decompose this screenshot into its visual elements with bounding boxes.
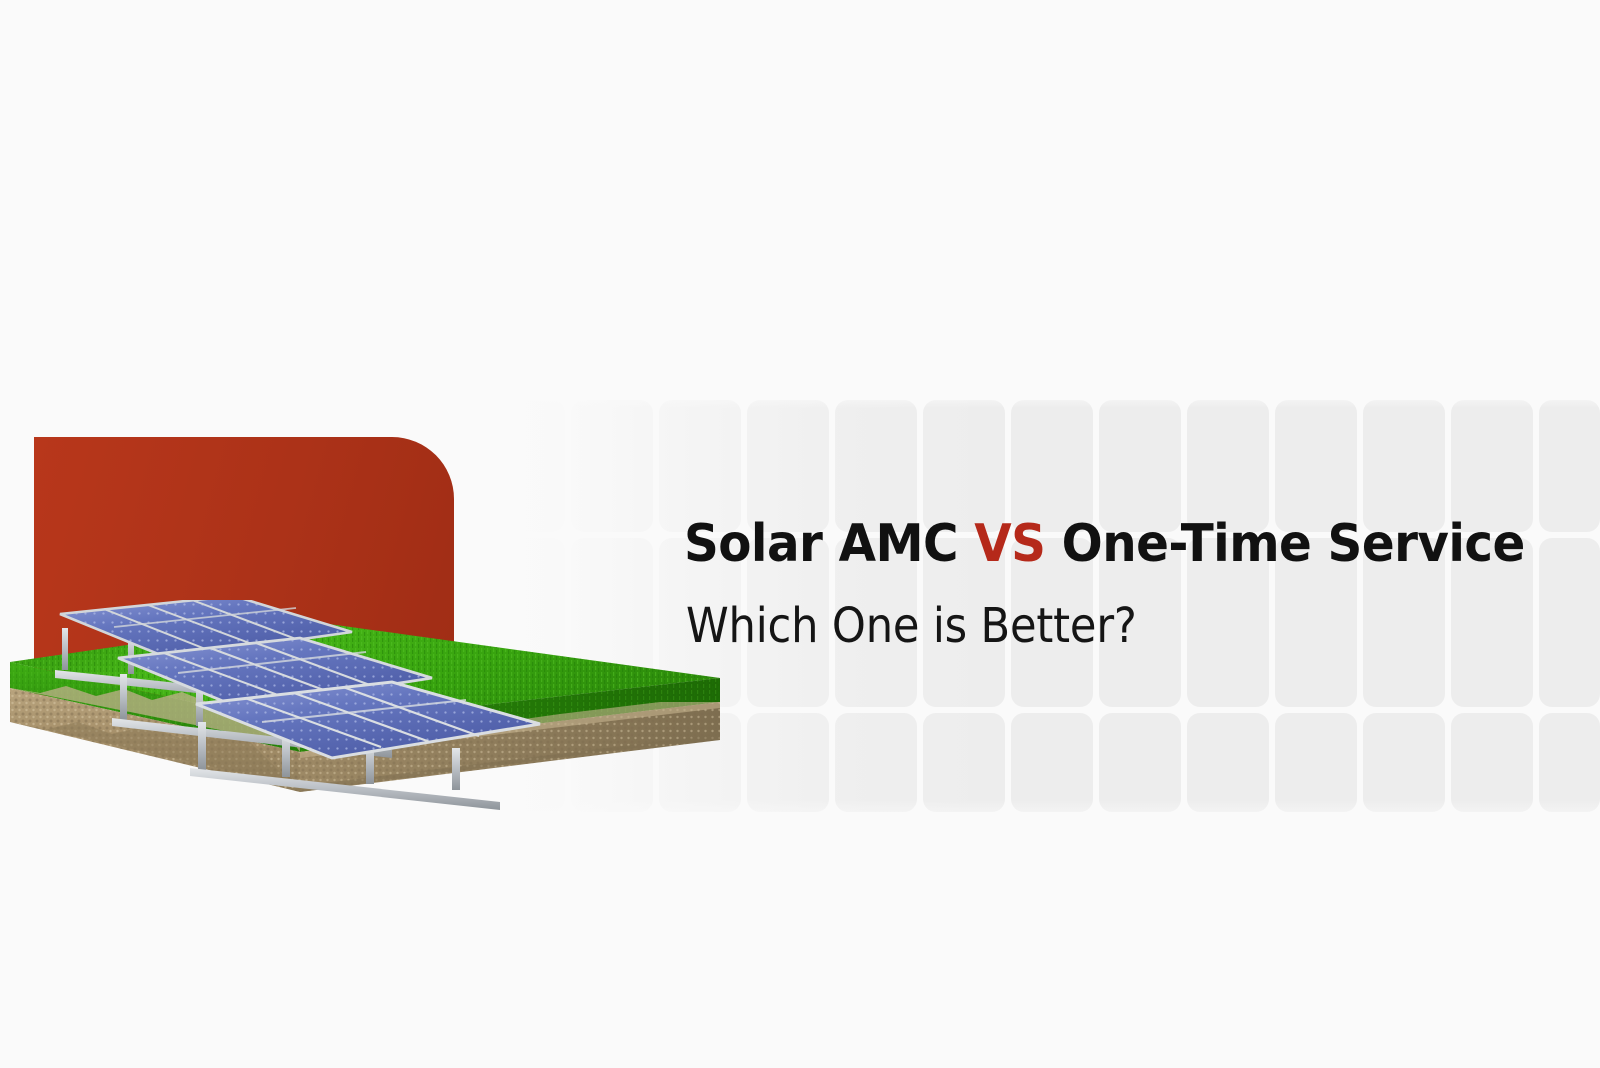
solar-cell-tile (1011, 400, 1093, 532)
solar-cell-tile (923, 400, 1005, 532)
page-title: Solar AMC VS One-Time Service (684, 514, 1525, 574)
solar-farm-svg (0, 600, 760, 820)
solar-farm-illustration (0, 600, 760, 820)
solar-cell-tile (1363, 400, 1445, 532)
solar-cell-tile (1187, 400, 1269, 532)
solar-cell-tile (1099, 713, 1181, 812)
solar-cell-tile (1451, 400, 1533, 532)
solar-cell-tile (1275, 400, 1357, 532)
solar-cell-tile (1539, 538, 1600, 707)
headline-part-one: Solar AMC (684, 514, 974, 574)
headline-vs-accent: VS (974, 514, 1045, 574)
solar-cell-tile (483, 400, 565, 532)
solar-cell-tile (923, 713, 1005, 812)
solar-cell-tile (571, 400, 653, 532)
solar-cell-tile (659, 400, 741, 532)
solar-cell-tile (1539, 400, 1600, 532)
solar-cell-tile (1011, 713, 1093, 812)
solar-cell-tile (1187, 713, 1269, 812)
headline-part-two: One-Time Service (1045, 514, 1524, 574)
solar-cell-tile (1099, 400, 1181, 532)
solar-cell-tile (1539, 713, 1600, 812)
solar-cell-tile (747, 400, 829, 532)
solar-cell-tile (1363, 713, 1445, 812)
solar-cell-tile (1275, 713, 1357, 812)
solar-cell-tile (835, 400, 917, 532)
solar-cell-tile (835, 713, 917, 812)
page-subtitle: Which One is Better? (686, 598, 1137, 654)
solar-cell-tile (1451, 713, 1533, 812)
banner-canvas: Solar AMC VS One-Time Service Which One … (0, 0, 1600, 1068)
